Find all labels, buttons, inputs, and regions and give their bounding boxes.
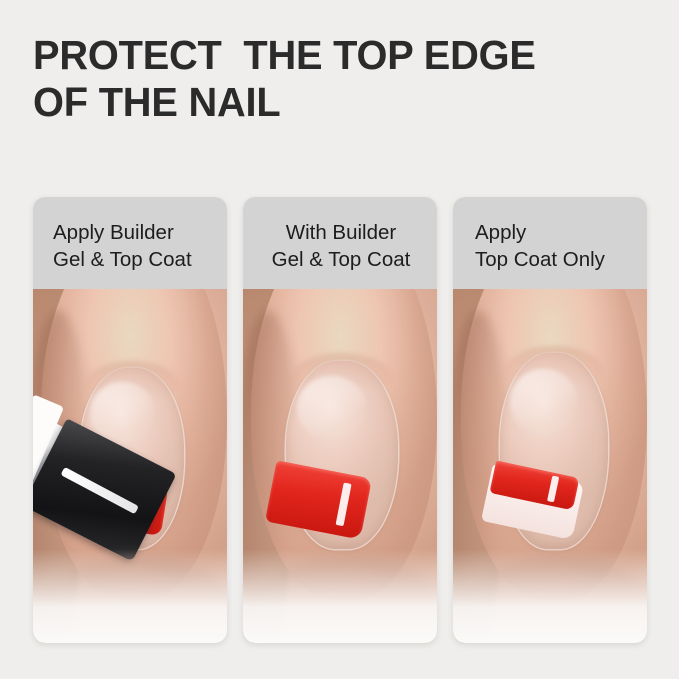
card-3-caption: Apply Top Coat Only <box>453 197 647 289</box>
photo-bottom-fade <box>453 549 647 643</box>
card-2-photo <box>243 281 437 643</box>
card-3-photo <box>453 281 647 643</box>
photo-bottom-fade <box>243 549 437 643</box>
nail-gloss-highlight <box>510 369 577 435</box>
comparison-card-3: Apply Top Coat Only <box>453 197 647 643</box>
card-1-photo <box>33 281 227 643</box>
polish-specular-highlight <box>547 476 559 503</box>
page-title: PROTECT THE TOP EDGE OF THE NAIL <box>33 32 634 126</box>
card-1-caption: Apply Builder Gel & Top Coat <box>33 197 227 289</box>
comparison-card-2: With Builder Gel & Top Coat <box>243 197 437 643</box>
comparison-card-1: Apply Builder Gel & Top Coat <box>33 197 227 643</box>
card-2-caption: With Builder Gel & Top Coat <box>243 197 437 289</box>
photo-bottom-fade <box>33 549 227 643</box>
brush-handle <box>33 419 177 562</box>
comparison-card-row: Apply Builder Gel & Top Coat <box>33 197 647 643</box>
nail-gloss-highlight <box>297 376 367 440</box>
polish-specular-highlight <box>336 482 352 526</box>
brush-handle-highlight <box>60 467 138 514</box>
